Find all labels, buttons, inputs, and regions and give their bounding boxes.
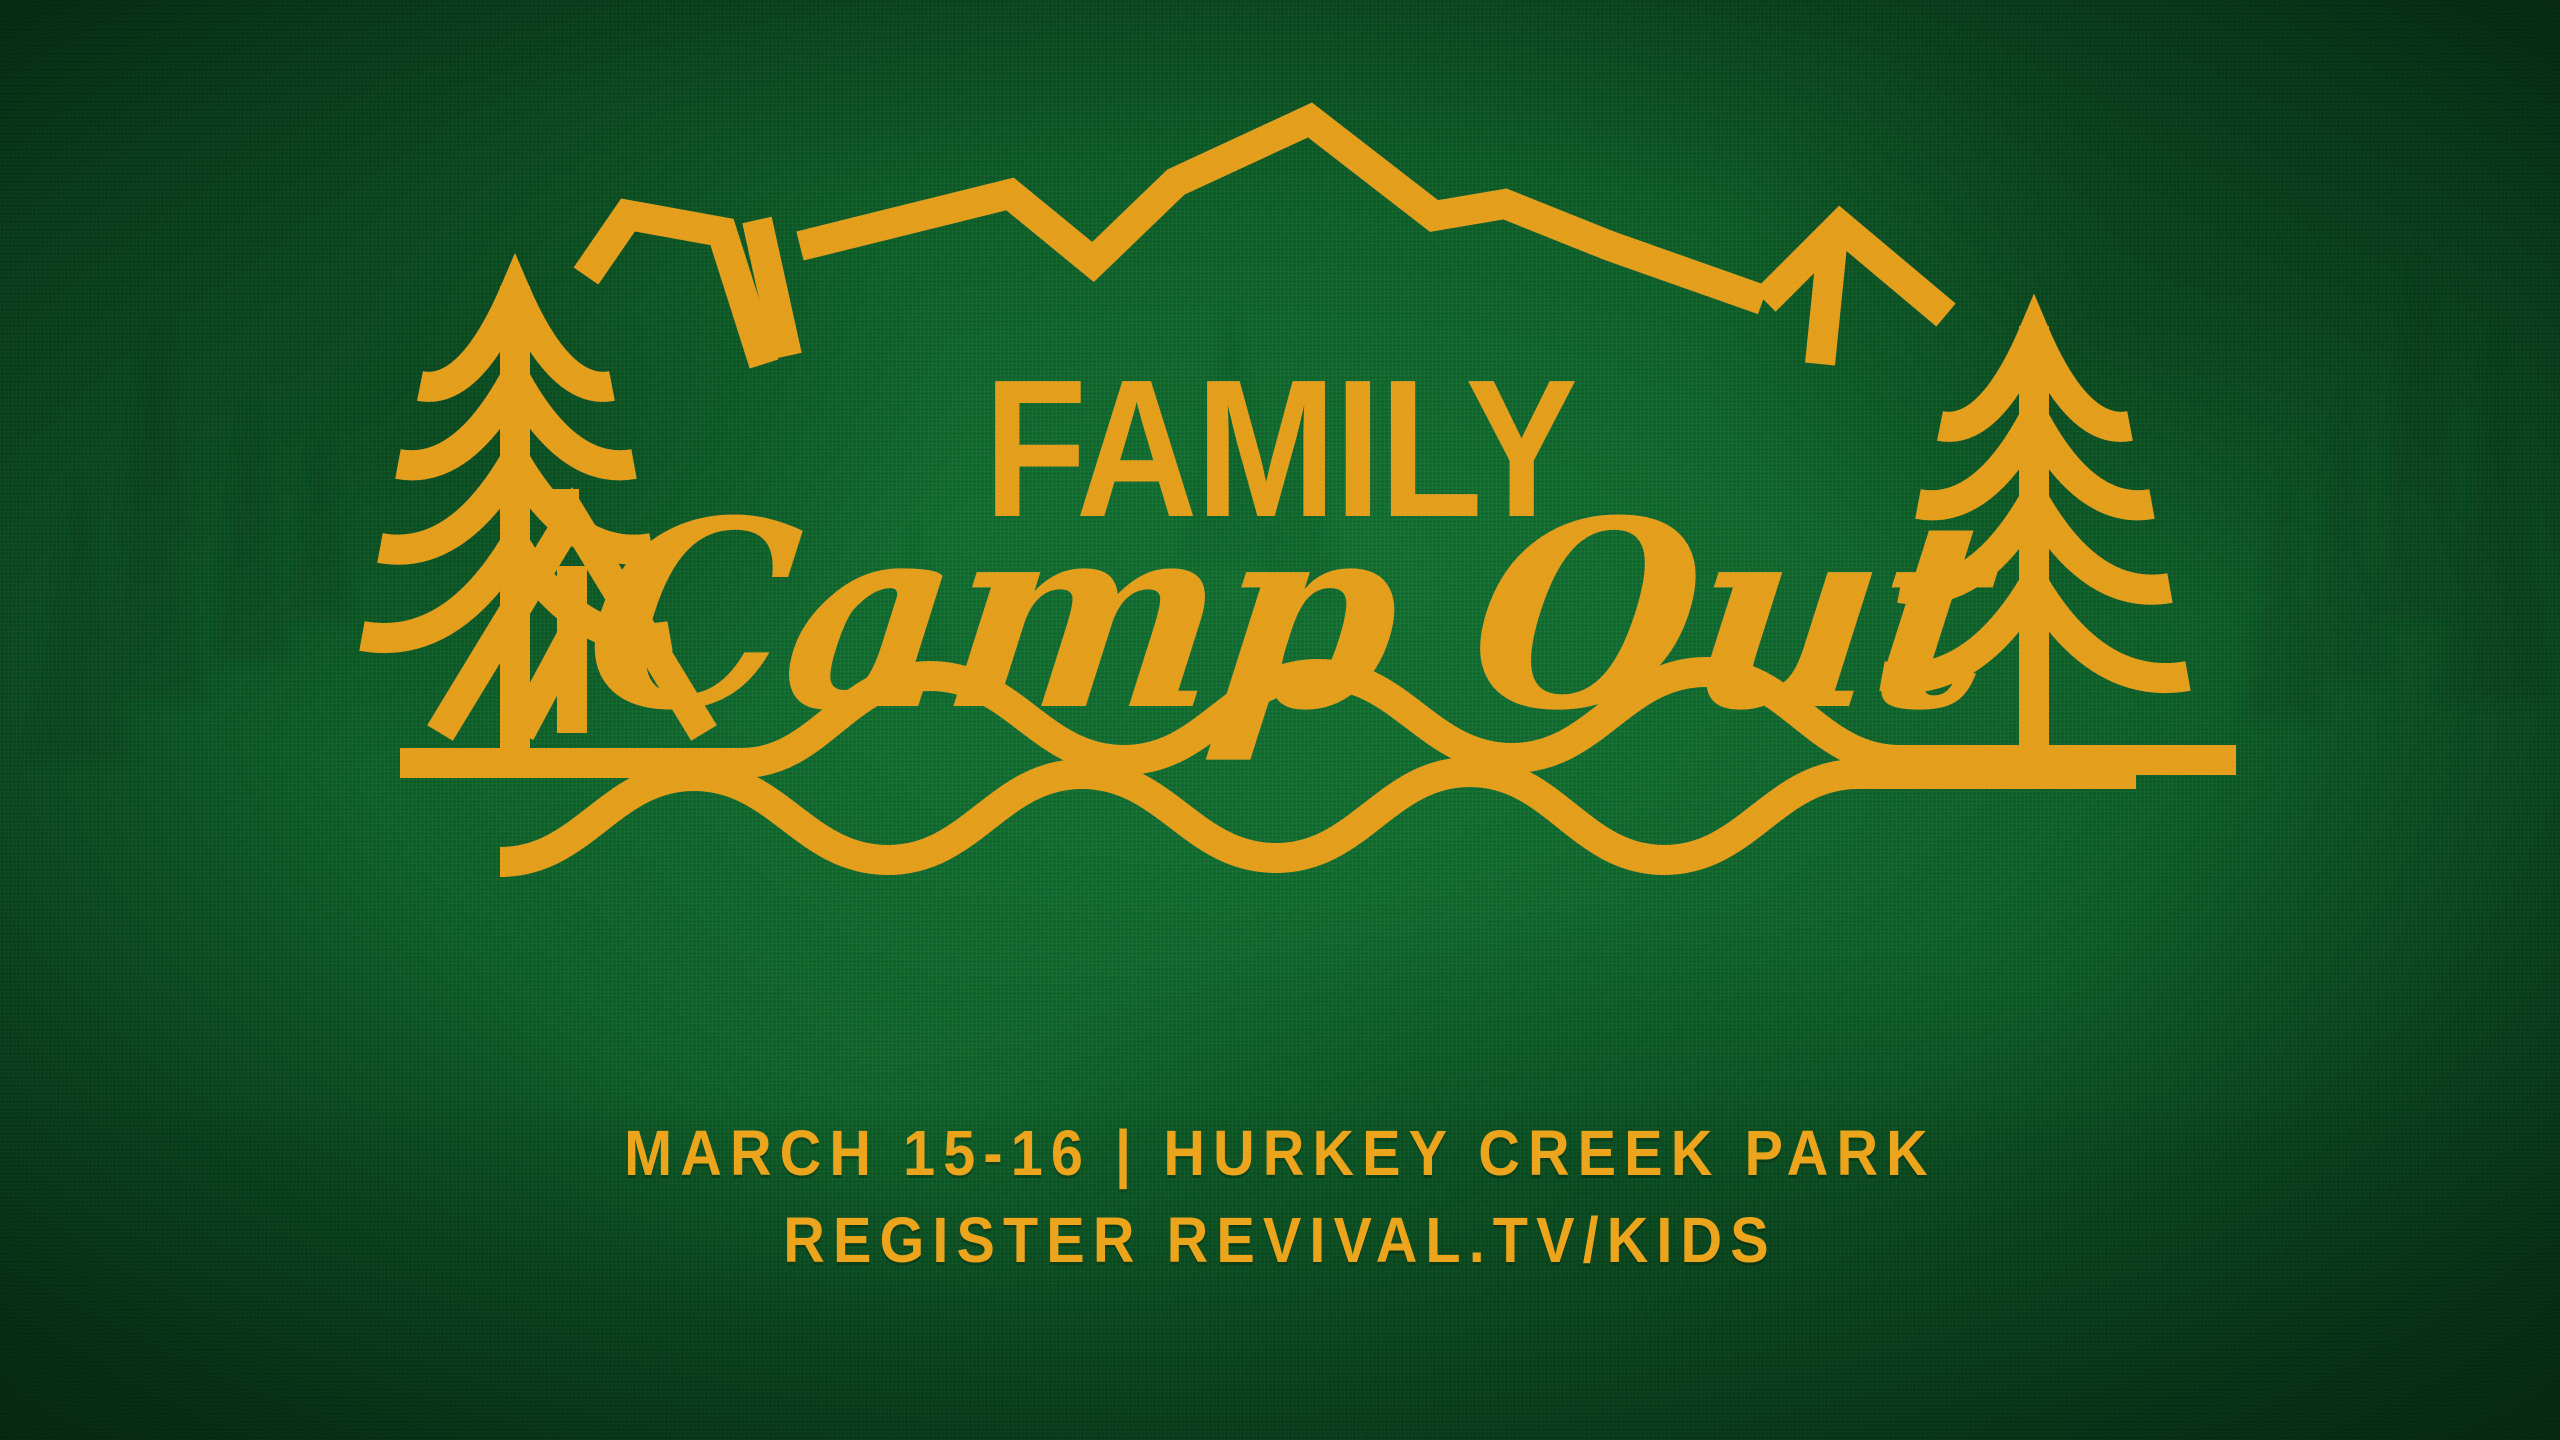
camp-badge: FAMILY Camp Out	[0, 96, 2560, 1096]
footer-text-block: MARCH 15-16 | HURKEY CREEK PARK REGISTER…	[0, 1120, 2560, 1274]
badge-artwork: FAMILY Camp Out	[0, 96, 2560, 1096]
footer-date-venue: MARCH 15-16 | HURKEY CREEK PARK	[128, 1120, 2432, 1187]
badge-title-script: Camp Out	[571, 465, 2011, 768]
mountain-peak-right	[1765, 226, 1946, 315]
mountain-peak-left	[586, 215, 764, 364]
water-wave-lower	[500, 772, 2136, 862]
mountain-range-outline	[800, 120, 1763, 300]
mountain-ridge-right-down	[1820, 236, 1833, 364]
poster-canvas: FAMILY Camp Out MARCH 15-16 | HURKEY CRE…	[0, 0, 2560, 1440]
footer-register-url: REGISTER REVIVAL.TV/KIDS	[128, 1207, 2432, 1274]
